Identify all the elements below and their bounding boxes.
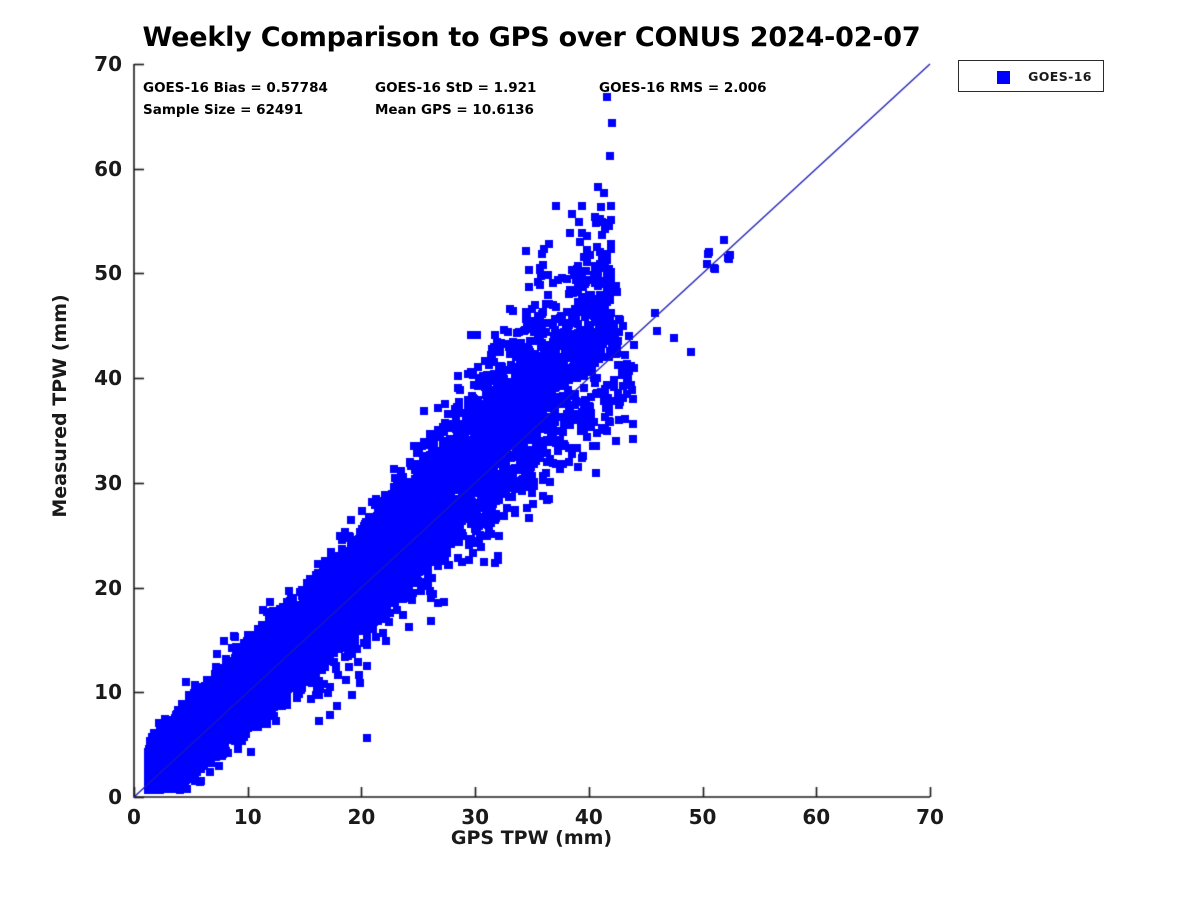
y-tick-label: 60 bbox=[82, 159, 122, 179]
annotation-std: GOES-16 StD = 1.921 bbox=[375, 80, 536, 96]
figure-canvas: Weekly Comparison to GPS over CONUS 2024… bbox=[0, 0, 1200, 900]
y-tick-label: 0 bbox=[82, 787, 122, 807]
x-tick-label: 20 bbox=[331, 807, 391, 827]
y-tick-label: 10 bbox=[82, 682, 122, 702]
x-tick-label: 50 bbox=[673, 807, 733, 827]
legend: GOES-16 bbox=[958, 60, 1104, 92]
x-tick-label: 0 bbox=[104, 807, 164, 827]
annotation-bias: GOES-16 Bias = 0.57784 bbox=[143, 80, 328, 96]
y-tick-label: 20 bbox=[82, 578, 122, 598]
annotation-mean-gps: Mean GPS = 10.6136 bbox=[375, 102, 534, 118]
legend-swatch-goes-16 bbox=[997, 71, 1010, 84]
legend-label-goes-16: GOES-16 bbox=[1023, 69, 1097, 84]
annotation-rms: GOES-16 RMS = 2.006 bbox=[599, 80, 767, 96]
x-tick-label: 60 bbox=[786, 807, 846, 827]
y-tick-label: 50 bbox=[82, 263, 122, 283]
x-tick-label: 30 bbox=[445, 807, 505, 827]
y-axis-label: Measured TPW (mm) bbox=[49, 286, 71, 526]
annotation-sample-size: Sample Size = 62491 bbox=[143, 102, 303, 118]
y-tick-label: 70 bbox=[82, 54, 122, 74]
y-tick-label: 40 bbox=[82, 368, 122, 388]
x-tick-label: 10 bbox=[218, 807, 278, 827]
x-tick-label: 40 bbox=[559, 807, 619, 827]
y-tick-label: 30 bbox=[82, 473, 122, 493]
x-tick-label: 70 bbox=[900, 807, 960, 827]
scatter-plot-canvas bbox=[0, 0, 1200, 900]
x-axis-label: GPS TPW (mm) bbox=[133, 827, 930, 849]
